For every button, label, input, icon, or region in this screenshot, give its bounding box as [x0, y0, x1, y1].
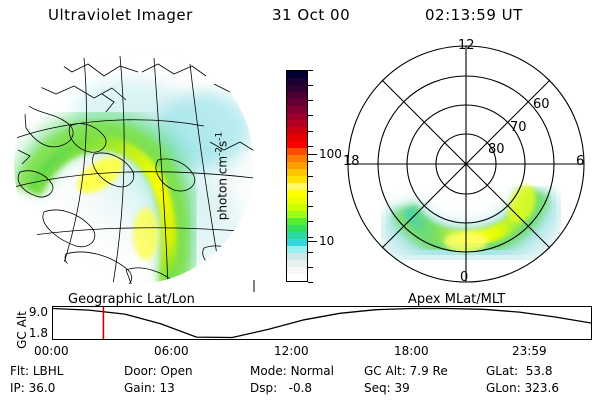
- status-glat: GLat: 53.8: [486, 364, 552, 378]
- time-tick-2: 12:00: [274, 344, 309, 358]
- colorbar-minor-tick: [308, 85, 313, 86]
- time-tick-4: 23:59: [512, 344, 547, 358]
- geographic-panel-caption: Geographic Lat/Lon: [68, 292, 195, 307]
- mlt-label-6: 6: [576, 154, 584, 169]
- mlt-label-0: 0: [460, 270, 468, 285]
- colorbar-minor-tick: [308, 267, 313, 268]
- colorbar-minor-tick: [308, 115, 313, 116]
- colorbar-minor-tick: [308, 70, 313, 71]
- status-dsp: Dsp: -0.8: [250, 381, 312, 395]
- mlt-label-12: 12: [458, 38, 475, 53]
- status-ip: IP: 36.0: [10, 381, 55, 395]
- colorbar-minor-tick: [308, 252, 313, 253]
- time-tick-1: 06:00: [154, 344, 189, 358]
- status-gc-alt: GC Alt: 7.9 Re: [364, 364, 448, 378]
- status-seq: Seq: 39: [364, 381, 410, 395]
- colorbar-minor-tick: [308, 206, 313, 207]
- colorbar-axis-title: photon cm-2s-1: [215, 96, 230, 256]
- observation-date: 31 Oct 00: [272, 6, 350, 24]
- colorbar-major-tick: [308, 154, 317, 155]
- time-tick-0: 00:00: [34, 344, 69, 358]
- gc-alt-tick-high: 9.0: [18, 305, 48, 319]
- lat-label-80: 80: [488, 142, 505, 157]
- status-flt: Flt: LBHL: [10, 364, 63, 378]
- colorbar-major-tick: [308, 241, 317, 242]
- status-mode: Mode: Normal: [250, 364, 334, 378]
- colorbar-minor-tick: [308, 131, 313, 132]
- lat-label-60: 60: [533, 97, 550, 112]
- colorbar-label-10: 10: [319, 234, 334, 248]
- time-tick-3: 18:00: [394, 344, 429, 358]
- colorbar-minor-tick: [308, 282, 313, 283]
- gc-alt-tick-low: 1.8: [18, 326, 48, 340]
- colorbar-minor-tick: [308, 237, 313, 238]
- apex-polar-panel[interactable]: 12 6 0 18 60 70 80: [340, 42, 592, 294]
- colorbar-minor-tick: [308, 146, 313, 147]
- instrument-title: Ultraviolet Imager: [48, 6, 193, 24]
- status-glon: GLon: 323.6: [486, 381, 559, 395]
- colorbar-minor-tick: [308, 191, 313, 192]
- orbit-altitude-trace: [53, 309, 591, 338]
- status-door: Door: Open: [124, 364, 193, 378]
- colorbar: photon cm-2s-1 10010: [268, 56, 340, 296]
- colorbar-swatch-box: [286, 70, 308, 282]
- mlt-label-18: 18: [343, 154, 360, 169]
- observation-time: 02:13:59 UT: [425, 6, 523, 24]
- apex-polar-svg: [340, 42, 592, 294]
- orbit-altitude-plot[interactable]: [52, 306, 592, 340]
- apex-panel-caption: Apex MLat/MLT: [408, 292, 505, 307]
- colorbar-minor-tick: [308, 176, 313, 177]
- colorbar-gradient: [287, 71, 307, 281]
- mlt-spokes: [348, 46, 584, 282]
- colorbar-label-100: 100: [319, 147, 342, 161]
- colorbar-minor-tick: [308, 100, 313, 101]
- status-gain: Gain: 13: [124, 381, 175, 395]
- orbit-altitude-svg: [53, 307, 591, 339]
- colorbar-minor-tick: [308, 161, 313, 162]
- status-block: Flt: LBHL Door: Open Mode: Normal GC Alt…: [0, 364, 600, 398]
- status-row-1: Flt: LBHL Door: Open Mode: Normal GC Alt…: [0, 364, 600, 381]
- status-row-2: IP: 36.0 Gain: 13 Dsp: -0.8 Seq: 39 GLon…: [0, 381, 600, 398]
- colorbar-minor-tick: [308, 221, 313, 222]
- colorbar-axis: 10010: [308, 70, 340, 282]
- lat-label-70: 70: [510, 120, 527, 135]
